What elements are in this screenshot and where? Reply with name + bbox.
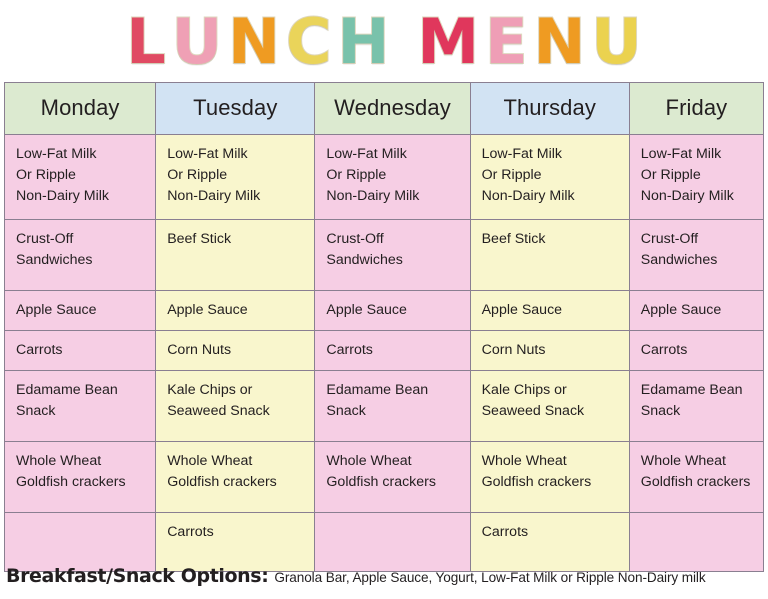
- cell-monday-fruit: Apple Sauce: [5, 291, 156, 331]
- cell-friday-snack: Edamame Bean Snack: [629, 370, 763, 441]
- cell-wednesday-vegetable: Carrots: [315, 330, 470, 370]
- table-row: CarrotsCarrots: [5, 512, 764, 571]
- cell-thursday-vegetable: Corn Nuts: [470, 330, 629, 370]
- column-header-thursday: Thursday: [470, 83, 629, 135]
- cell-thursday-milk: Low-Fat Milk Or Ripple Non-Dairy Milk: [470, 135, 629, 220]
- table-header-row: MondayTuesdayWednesdayThursdayFriday: [5, 83, 764, 135]
- column-header-friday: Friday: [629, 83, 763, 135]
- title-letter-e-7: E: [482, 11, 530, 73]
- lunch-menu-title: LUNCHMENU: [123, 11, 644, 73]
- title-letter-h-4: H: [335, 11, 393, 73]
- title-letter-u-9: U: [588, 11, 644, 73]
- cell-friday-main: Crust-Off Sandwiches: [629, 220, 763, 291]
- column-header-monday: Monday: [5, 83, 156, 135]
- cell-monday-main: Crust-Off Sandwiches: [5, 220, 156, 291]
- cell-wednesday-milk: Low-Fat Milk Or Ripple Non-Dairy Milk: [315, 135, 470, 220]
- title-letter-n-8: N: [530, 11, 588, 73]
- title-letter-n-2: N: [225, 11, 283, 73]
- footer-options-text: Granola Bar, Apple Sauce, Yogurt, Low-Fa…: [274, 570, 705, 585]
- column-header-wednesday: Wednesday: [315, 83, 470, 135]
- cell-monday-extra: [5, 512, 156, 571]
- cell-thursday-snack: Kale Chips or Seaweed Snack: [470, 370, 629, 441]
- cell-monday-vegetable: Carrots: [5, 330, 156, 370]
- table-body: Low-Fat Milk Or Ripple Non-Dairy MilkLow…: [5, 135, 764, 572]
- table-header: MondayTuesdayWednesdayThursdayFriday: [5, 83, 764, 135]
- lunch-menu-table: MondayTuesdayWednesdayThursdayFriday Low…: [4, 82, 764, 572]
- title-letter-l-0: L: [123, 11, 169, 73]
- cell-friday-milk: Low-Fat Milk Or Ripple Non-Dairy Milk: [629, 135, 763, 220]
- cell-tuesday-fruit: Apple Sauce: [156, 291, 315, 331]
- footer: Breakfast/Snack Options: Granola Bar, Ap…: [6, 565, 762, 587]
- page-title: LUNCHMENU: [0, 0, 768, 82]
- cell-thursday-crackers: Whole Wheat Goldfish crackers: [470, 441, 629, 512]
- cell-wednesday-main: Crust-Off Sandwiches: [315, 220, 470, 291]
- table-row: Edamame Bean SnackKale Chips or Seaweed …: [5, 370, 764, 441]
- cell-monday-crackers: Whole Wheat Goldfish crackers: [5, 441, 156, 512]
- cell-tuesday-crackers: Whole Wheat Goldfish crackers: [156, 441, 315, 512]
- cell-friday-vegetable: Carrots: [629, 330, 763, 370]
- cell-thursday-extra: Carrots: [470, 512, 629, 571]
- column-header-tuesday: Tuesday: [156, 83, 315, 135]
- cell-tuesday-extra: Carrots: [156, 512, 315, 571]
- title-letter-c-3: C: [283, 11, 335, 73]
- cell-wednesday-snack: Edamame Bean Snack: [315, 370, 470, 441]
- footer-label: Breakfast/Snack Options:: [6, 565, 268, 587]
- cell-friday-fruit: Apple Sauce: [629, 291, 763, 331]
- cell-monday-snack: Edamame Bean Snack: [5, 370, 156, 441]
- cell-thursday-fruit: Apple Sauce: [470, 291, 629, 331]
- cell-thursday-main: Beef Stick: [470, 220, 629, 291]
- table-row: Whole Wheat Goldfish crackersWhole Wheat…: [5, 441, 764, 512]
- table-row: Apple SauceApple SauceApple SauceApple S…: [5, 291, 764, 331]
- title-letter-u-1: U: [169, 11, 225, 73]
- cell-wednesday-crackers: Whole Wheat Goldfish crackers: [315, 441, 470, 512]
- table-row: Low-Fat Milk Or Ripple Non-Dairy MilkLow…: [5, 135, 764, 220]
- cell-monday-milk: Low-Fat Milk Or Ripple Non-Dairy Milk: [5, 135, 156, 220]
- table-row: Crust-Off SandwichesBeef StickCrust-Off …: [5, 220, 764, 291]
- cell-friday-crackers: Whole Wheat Goldfish crackers: [629, 441, 763, 512]
- cell-friday-extra: [629, 512, 763, 571]
- table-row: CarrotsCorn NutsCarrotsCorn NutsCarrots: [5, 330, 764, 370]
- cell-tuesday-snack: Kale Chips or Seaweed Snack: [156, 370, 315, 441]
- cell-wednesday-fruit: Apple Sauce: [315, 291, 470, 331]
- cell-tuesday-vegetable: Corn Nuts: [156, 330, 315, 370]
- cell-tuesday-milk: Low-Fat Milk Or Ripple Non-Dairy Milk: [156, 135, 315, 220]
- cell-tuesday-main: Beef Stick: [156, 220, 315, 291]
- title-letter-m-6: M: [414, 11, 482, 73]
- cell-wednesday-extra: [315, 512, 470, 571]
